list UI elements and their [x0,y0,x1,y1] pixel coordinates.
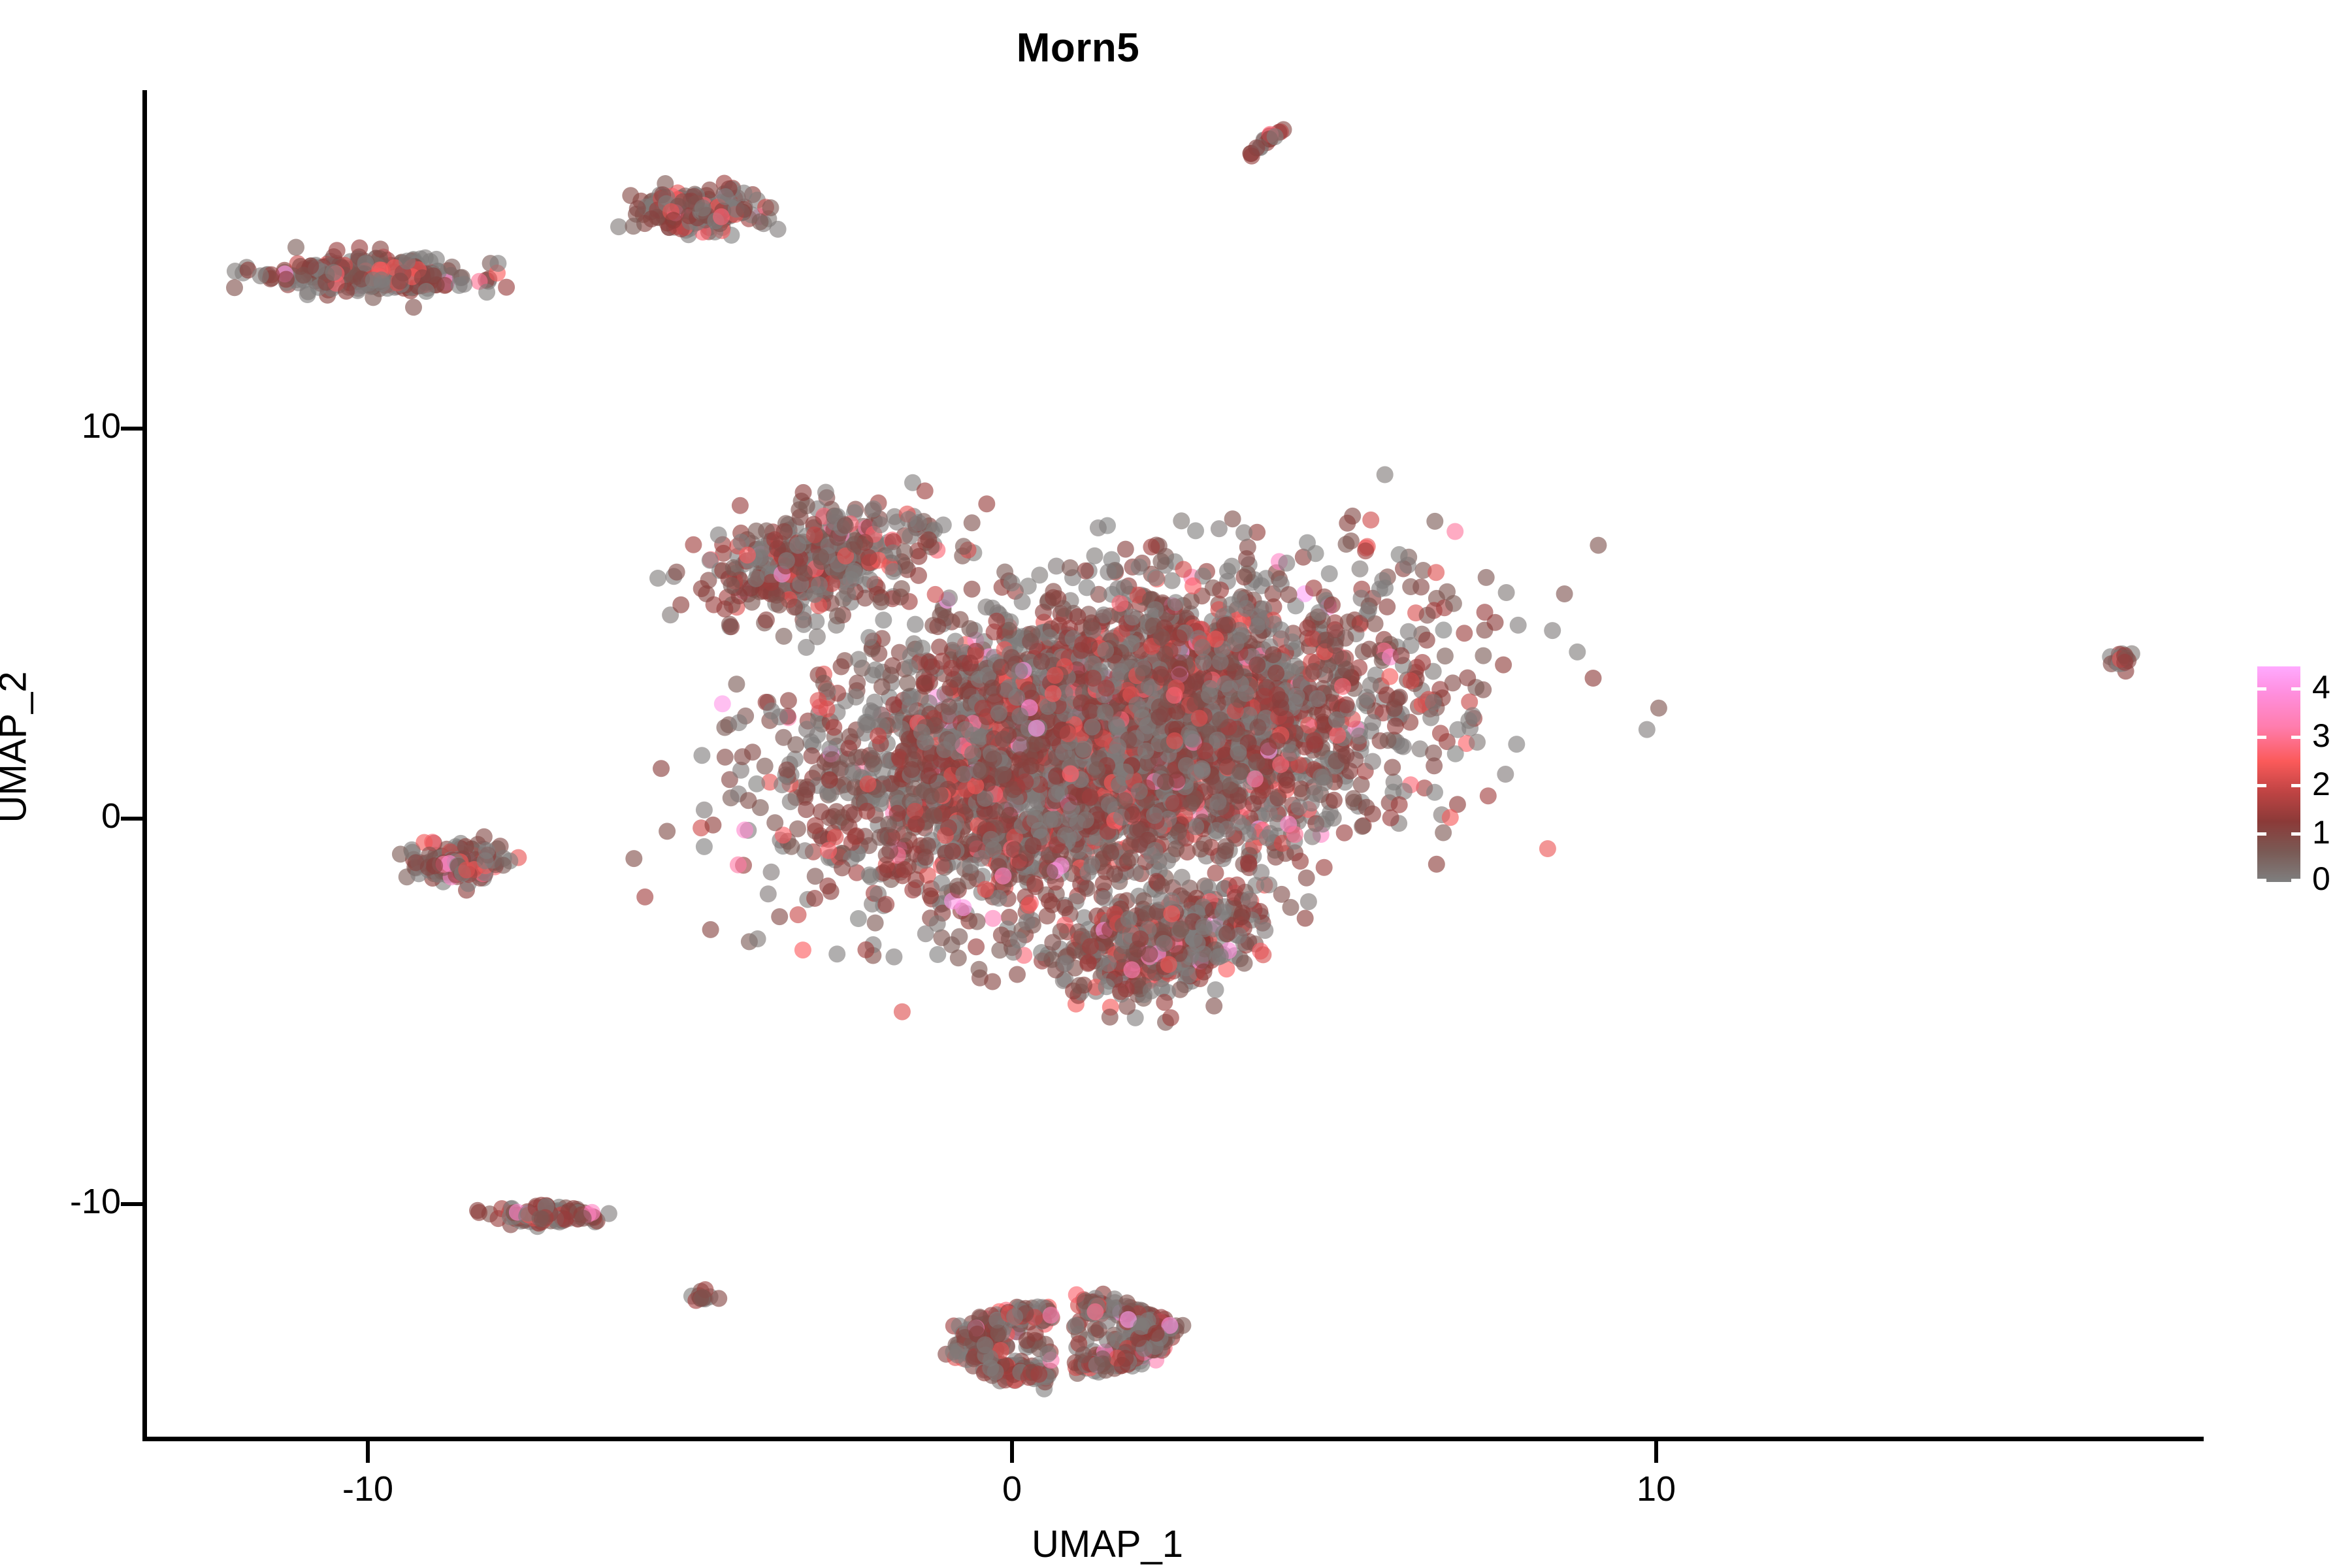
x-ticklabel-neg10: -10 [289,1471,446,1507]
colorbar-tick-3-right [2291,736,2300,739]
colorbar-tick-3-left [2257,736,2266,739]
y-tick-0 [121,817,143,821]
colorbar-label-3: 3 [2312,719,2351,752]
x-ticklabel-0: 0 [934,1471,1090,1507]
colorbar-label-4: 4 [2312,671,2351,704]
y-ticklabel-10: 10 [0,408,121,444]
y-tick-10 [121,427,143,431]
scatter-points-layer [145,91,2203,1439]
colorbar-legend: 4 3 2 1 0 [2257,666,2342,915]
colorbar-gradient [2257,666,2300,882]
colorbar-tick-0-right [2291,879,2300,882]
colorbar-tick-0-left [2257,879,2266,882]
colorbar-tick-4-right [2291,687,2300,691]
umap-feature-plot: Morn5 10 0 -10 -10 0 10 UMAP_1 UMAP_2 4 … [0,0,2352,1568]
colorbar-label-0: 0 [2312,862,2351,895]
scatter-svg [145,91,2203,1439]
x-tick-neg10 [366,1441,370,1463]
y-ticklabel-neg10: -10 [0,1184,121,1219]
colorbar-tick-1-right [2291,832,2300,836]
x-ticklabel-10: 10 [1578,1471,1735,1507]
x-tick-10 [1654,1441,1658,1463]
colorbar-label-1: 1 [2312,816,2351,849]
colorbar-tick-2-right [2291,784,2300,787]
page-title: Morn5 [0,25,2156,71]
y-axis-label: UMAP_2 [0,453,35,1041]
colorbar-tick-1-left [2257,832,2266,836]
x-tick-0 [1010,1441,1014,1463]
x-axis-label: UMAP_1 [0,1522,2215,1566]
colorbar-tick-2-left [2257,784,2266,787]
colorbar-label-2: 2 [2312,768,2351,800]
y-tick-neg10 [121,1202,143,1206]
colorbar-tick-4-left [2257,687,2266,691]
